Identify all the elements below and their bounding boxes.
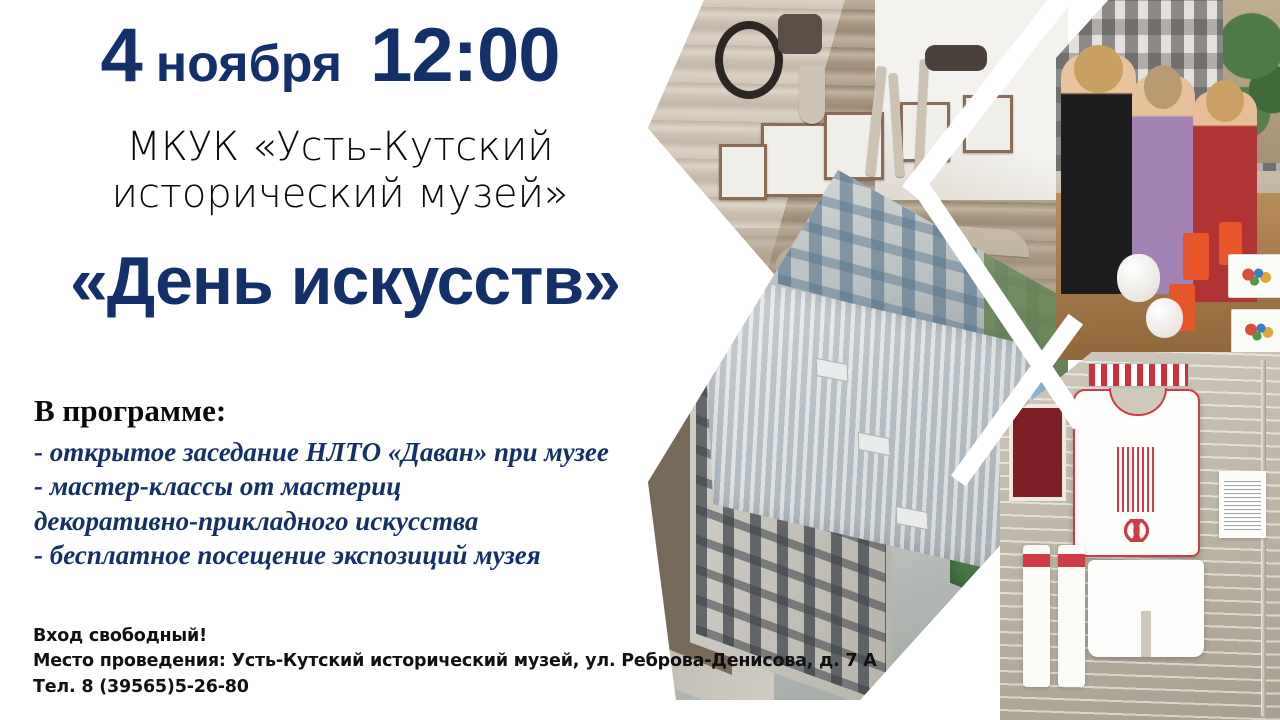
display-grid-shape [1000,352,1280,720]
olympic-singlet-shape [1073,389,1200,557]
wall-mural-shape [950,329,1055,626]
craft-workshop-photo-content [1056,0,1280,360]
program-item: - открытое заседание НЛТО «Даван» при му… [34,435,714,470]
venue-name-line1: МКУК «Усть-Кутский [30,124,650,171]
framed-poster-shape [1009,404,1067,501]
display-rail-shape [1261,359,1266,716]
footer-info: Вход свободный! Место проведения: Усть-К… [33,624,933,700]
program-item: - бесплатное посещение экспозиций музея [34,538,714,573]
worktable-shape [1056,193,1280,360]
program-item: - мастер-классы от мастериц [34,469,714,504]
program-section: В программе: - открытое заседание НЛТО «… [34,392,714,573]
olympic-shorts-shape [1088,560,1205,657]
participant-shape-3 [1193,91,1257,302]
museum-interior-photo [648,0,1068,348]
olympic-logo-shape [1117,447,1156,512]
participant-shape-1 [1061,54,1137,294]
program-heading: В программе: [34,392,714,431]
olympic-sock-shape-left [1023,545,1049,686]
venue-name: МКУК «Усть-Кутский исторический музей» [30,124,650,218]
poster-canvas: 4ноября12:00 МКУК «Усть-Кутский историче… [0,0,1280,720]
decorated-tree-shape [1223,0,1280,163]
event-time: 12:00 [370,13,559,98]
apartment-block-shape [766,170,1068,380]
page-title: «День искусств» [0,246,690,317]
footer-admission: Вход свободный! [33,624,933,649]
venue-name-line2: исторический музей» [30,171,650,218]
event-datetime: 4ноября12:00 [0,18,660,94]
olympic-banner-shape [1088,363,1189,387]
event-month: ноября [156,35,342,93]
olympic-uniform-display-photo-content [1000,352,1280,720]
olympic-sock-shape-right [1058,545,1084,686]
olympic-uniform-display-photo [1000,352,1280,720]
craft-workshop-photo [1056,0,1280,360]
photo-wall-shape [1056,0,1280,171]
text-column: 4ноября12:00 МКУК «Усть-Кутский историче… [0,0,700,720]
participant-shape-2 [1132,76,1196,294]
museum-roof-shape [701,268,1040,581]
seam-3 [951,314,1083,486]
program-item: декоративно-прикладного искусства [34,504,714,539]
seam-1 [902,0,1078,199]
footer-phone: Тел. 8 (39565)5-26-80 [33,675,933,700]
event-day: 4 [100,13,141,98]
olympic-rings-shape [1112,519,1161,542]
lawn-shape [984,252,1068,459]
museum-interior-photo-content [648,0,1068,348]
exhibit-label-shape [1219,471,1266,538]
seam-2 [906,171,1089,430]
footer-address: Место проведения: Усть-Кутский историчес… [33,649,933,674]
